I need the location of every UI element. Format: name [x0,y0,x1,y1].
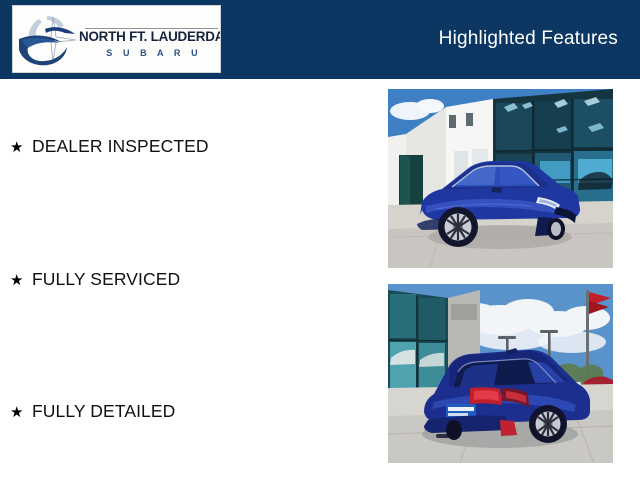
vehicle-rear-three-quarter-photo[interactable] [388,284,613,463]
logo-text-block: NORTH FT. LAUDERDALE S U B A R U [79,20,221,58]
header-bar: NORTH FT. LAUDERDALE S U B A R U Highlig… [0,0,640,79]
feature-label: FULLY DETAILED [32,401,175,421]
list-item: ★ FULLY DETAILED [10,401,175,423]
dealer-logo[interactable]: NORTH FT. LAUDERDALE S U B A R U [12,5,221,73]
feature-label: FULLY SERVICED [32,269,180,289]
feature-list: ★ DEALER INSPECTED ★ FULLY SERVICED ★ FU… [0,79,375,480]
star-bullet-icon: ★ [10,138,32,158]
star-bullet-icon: ★ [10,271,32,291]
star-bullet-icon: ★ [10,403,32,423]
list-item: ★ FULLY SERVICED [10,269,180,291]
compass-swoosh-logo-icon [17,11,85,69]
logo-dealer-name: NORTH FT. LAUDERDALE [79,29,221,45]
feature-label: DEALER INSPECTED [32,136,209,156]
list-item: ★ DEALER INSPECTED [10,136,209,158]
page-title: Highlighted Features [439,28,618,50]
vehicle-front-three-quarter-photo[interactable] [388,89,613,268]
logo-brand-subtitle: S U B A R U [87,48,221,58]
